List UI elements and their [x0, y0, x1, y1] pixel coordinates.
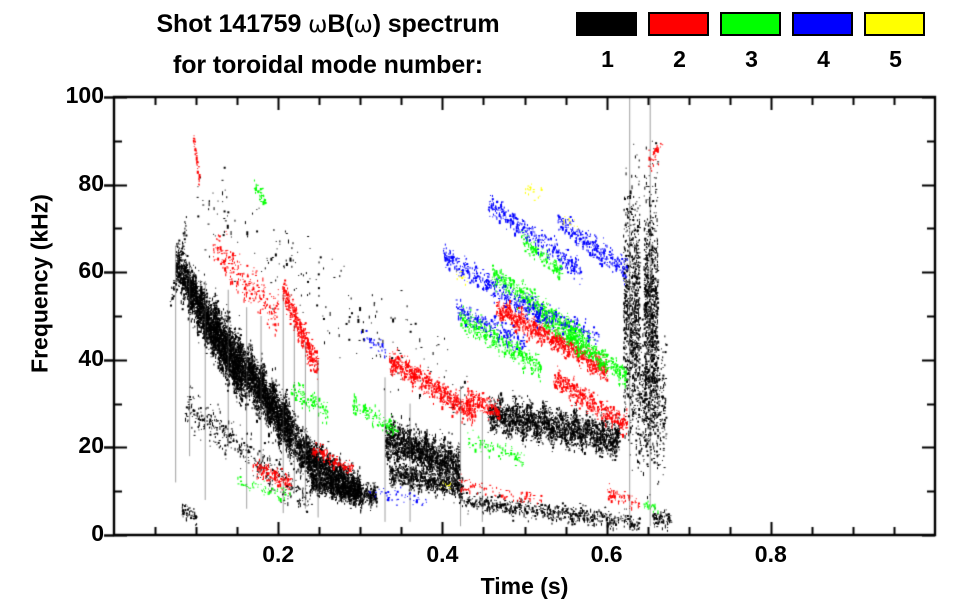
x-tick-label-0.2: 0.2: [238, 541, 318, 568]
y-tick-label-0: 0: [16, 520, 104, 547]
x-tick-label-0.4: 0.4: [402, 541, 482, 568]
x-tick-label-0.6: 0.6: [567, 541, 647, 568]
y-tick-label-80: 80: [16, 170, 104, 197]
x-axis-label: Time (s): [114, 573, 935, 600]
spectrogram-plot-area: [0, 0, 963, 615]
y-tick-label-40: 40: [16, 345, 104, 372]
y-tick-label-60: 60: [16, 257, 104, 284]
x-tick-label-0.8: 0.8: [731, 541, 811, 568]
spectrogram-figure: Shot 141759 ωB(ω) spectrum for toroidal …: [0, 0, 963, 615]
y-tick-label-20: 20: [16, 432, 104, 459]
y-tick-label-100: 100: [16, 82, 104, 109]
